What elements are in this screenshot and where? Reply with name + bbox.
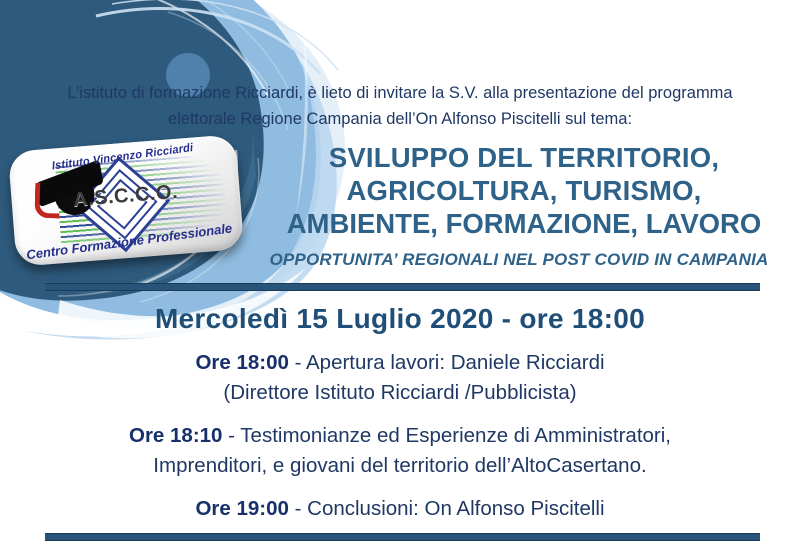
top-arc-streaks — [96, 0, 338, 74]
agenda-detail-line: (Direttore Istituto Ricciardi /Pubblicis… — [0, 378, 800, 408]
agenda-detail-line: Imprenditori, e giovani del territorio d… — [0, 451, 800, 481]
agenda-time: Ore 18:10 — [129, 424, 222, 447]
agenda-main-line: Ore 18:00 - Apertura lavori: Daniele Ric… — [0, 348, 800, 378]
intro-line-2: elettorale Regione Campania dell’On Alfo… — [0, 106, 800, 132]
intro-paragraph: L’istituto di formazione Ricciardi, è li… — [0, 80, 800, 132]
agenda-list: Ore 18:00 - Apertura lavori: Daniele Ric… — [0, 348, 800, 524]
institute-logo: Istituto Vincenzo Ricciardi A.S.C.C.O. C… — [8, 134, 244, 267]
divider-rule-top — [45, 283, 760, 291]
divider-rule-bottom — [45, 533, 760, 541]
headline-line-2: AGRICOLTURA, TURISMO, — [248, 174, 800, 207]
subheadline: OPPORTUNITA’ REGIONALI NEL POST COVID IN… — [238, 250, 800, 270]
main-headline: SVILUPPO DEL TERRITORIO, AGRICOLTURA, TU… — [248, 141, 800, 240]
headline-line-1: SVILUPPO DEL TERRITORIO, — [248, 141, 800, 174]
headline-line-3: AMBIENTE, FORMAZIONE, LAVORO — [248, 207, 800, 240]
logo-card-shape: Istituto Vincenzo Ricciardi A.S.C.C.O. C… — [8, 134, 244, 267]
intro-line-1: L’istituto di formazione Ricciardi, è li… — [0, 80, 800, 106]
agenda-main-line: Ore 19:00 - Conclusioni: On Alfonso Pisc… — [0, 494, 800, 524]
agenda-item: Ore 18:10 - Testimonianze ed Esperienze … — [0, 421, 800, 481]
agenda-item: Ore 18:00 - Apertura lavori: Daniele Ric… — [0, 348, 800, 408]
agenda-time: Ore 18:00 — [195, 351, 288, 374]
agenda-text: - Apertura lavori: Daniele Ricciardi — [289, 351, 605, 374]
agenda-text: - Testimonianze ed Esperienze di Amminis… — [222, 424, 671, 447]
agenda-time: Ore 19:00 — [195, 497, 288, 520]
event-date-line: Mercoledì 15 Luglio 2020 - ore 18:00 — [0, 303, 800, 335]
agenda-text: - Conclusioni: On Alfonso Piscitelli — [289, 497, 605, 520]
agenda-main-line: Ore 18:10 - Testimonianze ed Esperienze … — [0, 421, 800, 451]
agenda-item: Ore 19:00 - Conclusioni: On Alfonso Pisc… — [0, 494, 800, 524]
poster-canvas: Istituto Vincenzo Ricciardi A.S.C.C.O. C… — [0, 0, 800, 548]
